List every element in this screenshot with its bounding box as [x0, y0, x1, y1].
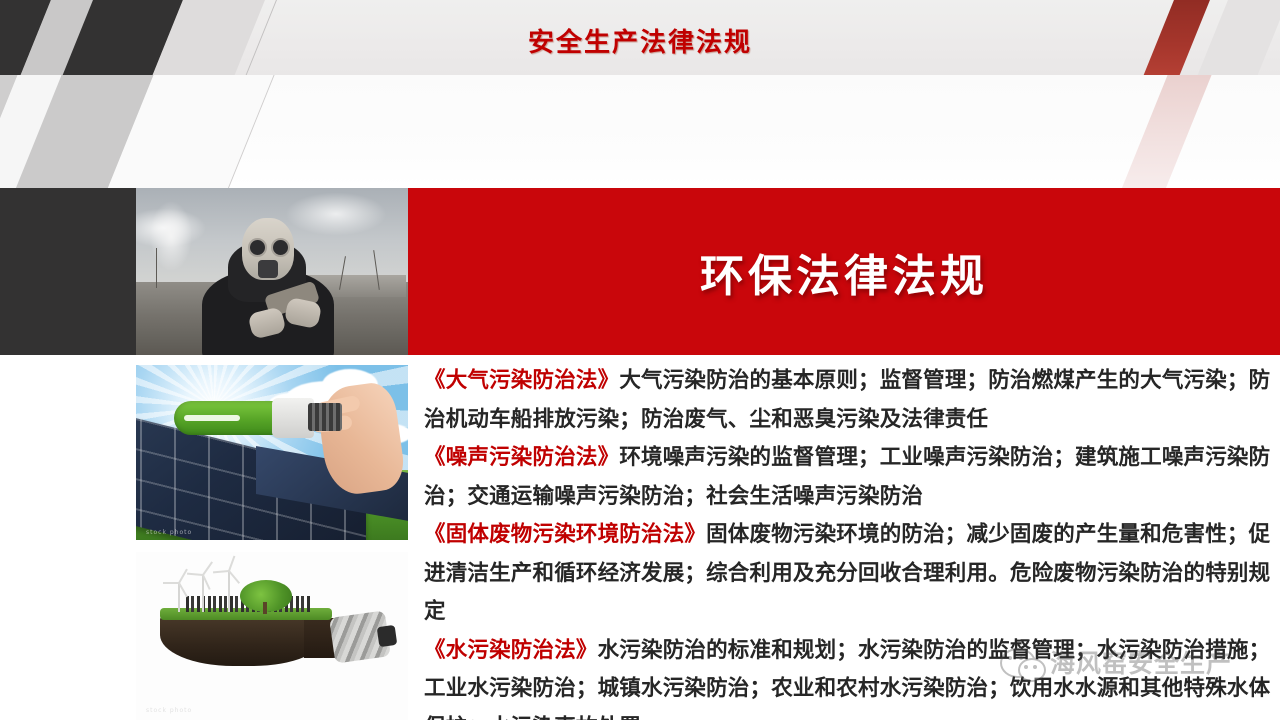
- section-banner: 环保法律法规: [408, 188, 1280, 355]
- slide-root: 安全生产法律法规 环保法律法规: [0, 0, 1280, 720]
- turbine-blade: [163, 582, 179, 584]
- page-title: 安全生产法律法规: [0, 22, 1280, 59]
- turbine-blade: [213, 570, 229, 573]
- header-lower-band: [0, 75, 1280, 188]
- law-name: 《噪声污染防治法》: [424, 445, 619, 470]
- grass-bulb-slot: [184, 415, 240, 421]
- tree-trunk: [263, 602, 267, 614]
- law-name: 《固体废物污染环境防治法》: [424, 522, 706, 547]
- gas-mask-photo: [136, 188, 408, 355]
- law-list: 《大气污染防治法》大气污染防治的基本原则；监督管理；防治燃煤产生的大气污染；防治…: [424, 362, 1276, 720]
- turbine-blade: [228, 556, 235, 572]
- law-paragraph: 《固体废物污染环境防治法》固体废物污染环境的防治；减少固废的产生量和危害性；促进…: [424, 516, 1276, 632]
- smoke-plume: [144, 190, 198, 282]
- law-paragraph: 《噪声污染防治法》环境噪声污染的监督管理；工业噪声污染防治；建筑施工噪声污染防治…: [424, 439, 1276, 516]
- lower-stripe-red-pale: [1118, 75, 1214, 188]
- masked-person: [198, 214, 346, 355]
- bulb-base: [308, 403, 342, 431]
- solar-panel-photo: stock photo: [136, 365, 408, 540]
- left-dark-block: [0, 188, 136, 355]
- twig-icon: [156, 248, 157, 288]
- turbine-blade: [187, 573, 203, 576]
- bulb-contact-tip: [377, 625, 398, 647]
- law-name: 《水污染防治法》: [424, 638, 598, 663]
- law-paragraph: 《水污染防治法》水污染防治的标准和规划；水污染防治的监督管理；水污染防治措施；工…: [424, 632, 1276, 720]
- mask-eye-left: [248, 238, 267, 257]
- law-paragraph: 《大气污染防治法》大气污染防治的基本原则；监督管理；防治燃煤产生的大气污染；防治…: [424, 362, 1276, 439]
- turbine-blade: [228, 570, 240, 584]
- mask-filter: [258, 260, 278, 278]
- soil-mass: [160, 614, 326, 666]
- stock-watermark: stock photo: [146, 529, 192, 536]
- section-banner-title: 环保法律法规: [700, 240, 988, 304]
- law-name: 《大气污染防治法》: [424, 368, 619, 393]
- stock-watermark: stock photo: [146, 707, 192, 714]
- eco-bulb-photo: stock photo: [136, 552, 408, 720]
- gas-mask-icon: [242, 218, 294, 280]
- wind-turbine-icon: [228, 570, 230, 612]
- mask-eye-right: [271, 238, 290, 257]
